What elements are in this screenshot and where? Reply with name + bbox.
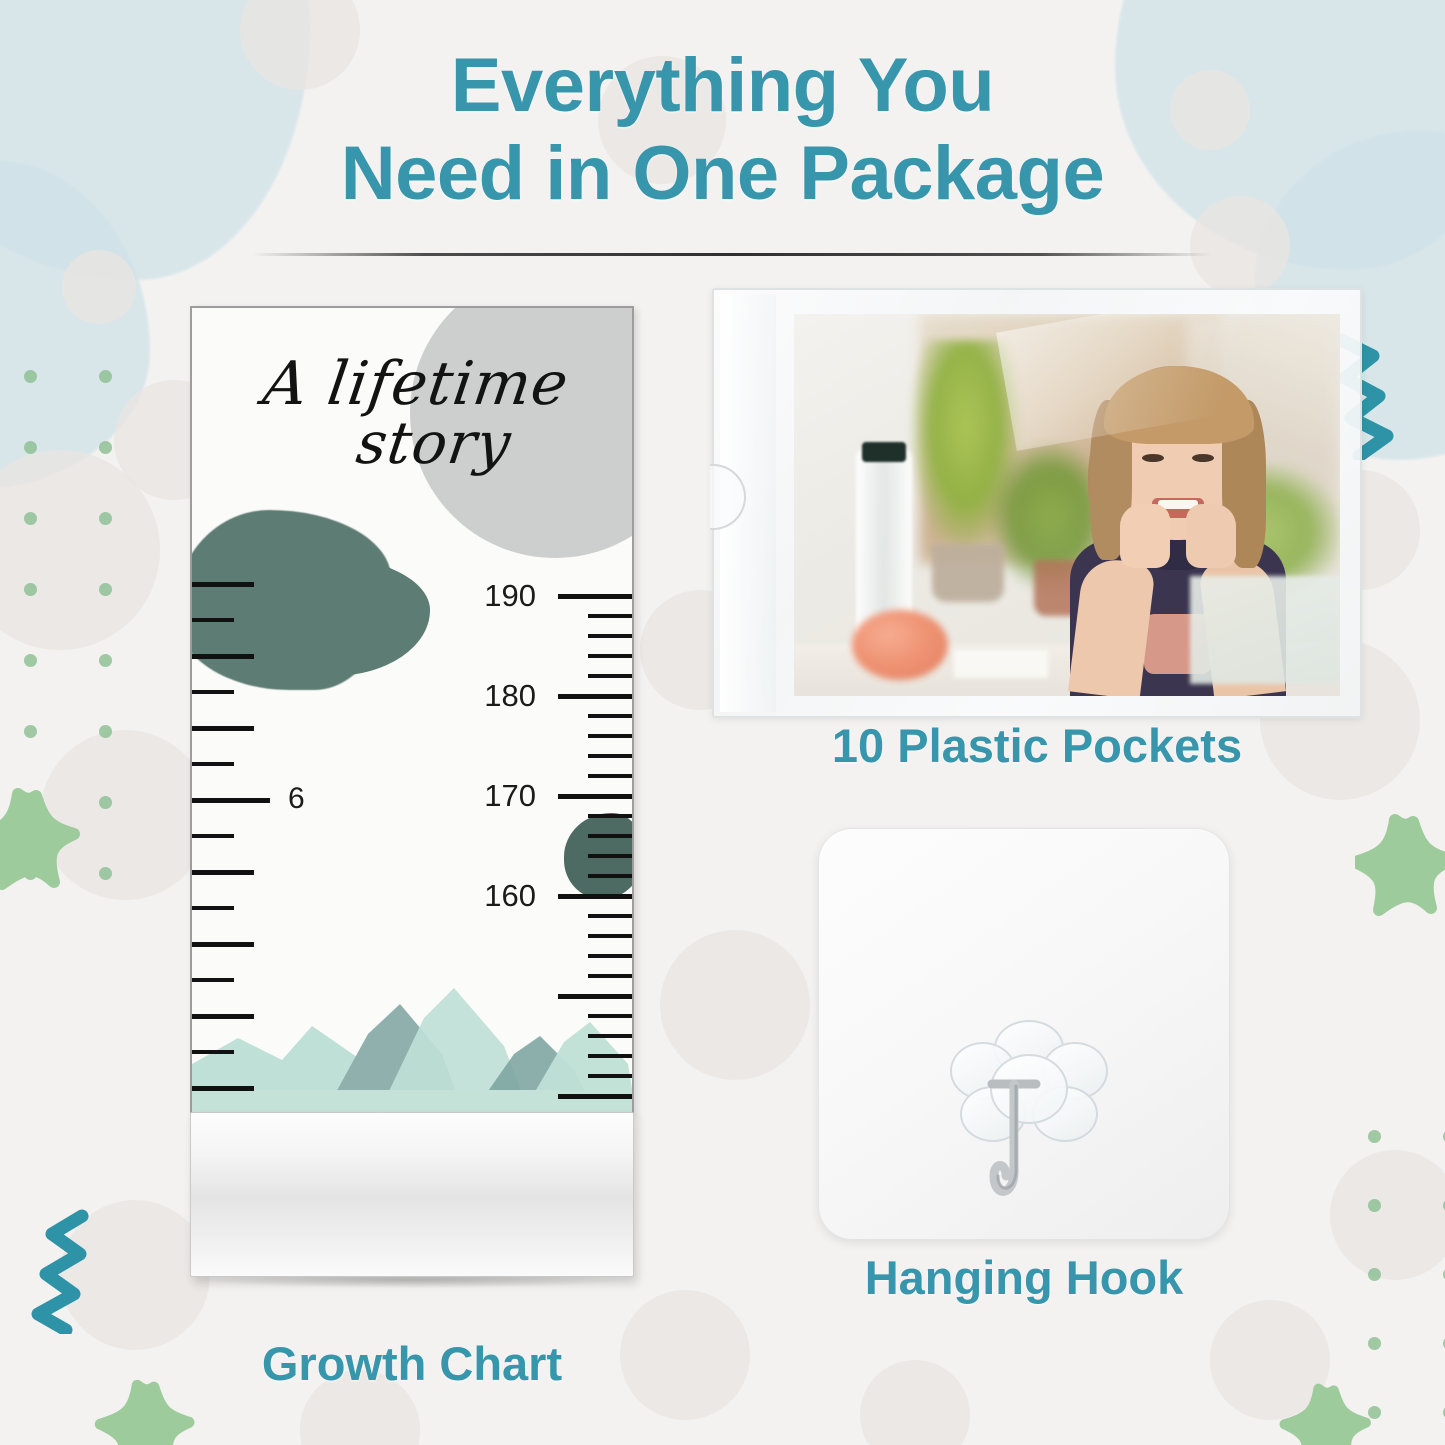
background-circle xyxy=(620,1290,750,1420)
growth-chart-rolled-bottom xyxy=(190,1112,634,1277)
caption-hanging-hook: Hanging Hook xyxy=(818,1250,1230,1305)
headline-line-2: Need in One Package xyxy=(0,130,1445,218)
background-circle xyxy=(660,930,810,1080)
photo-bottle-cap xyxy=(862,442,906,462)
photo-girl-eye xyxy=(1192,454,1214,462)
decor-dot xyxy=(99,796,112,809)
decor-dot xyxy=(99,441,112,454)
photo-girl-eye xyxy=(1142,454,1164,462)
decor-dot xyxy=(24,512,37,525)
hook-metal-hook-icon xyxy=(986,1076,1042,1216)
decor-dot xyxy=(24,583,37,596)
decor-dot xyxy=(99,370,112,383)
photo-foreground-card xyxy=(1190,576,1340,684)
product-growth-chart[interactable]: A lifetime story xyxy=(190,306,634,1316)
ruler-cm-label-170: 170 xyxy=(446,778,536,814)
infographic-canvas: Everything You Need in One Package A lif… xyxy=(0,0,1445,1445)
photo-paper xyxy=(954,650,1048,678)
decor-star-bottom-right xyxy=(1277,1382,1387,1445)
background-circle xyxy=(860,1360,970,1445)
headline-divider xyxy=(252,253,1212,256)
decor-dot xyxy=(1368,1199,1381,1212)
headline-line-1: Everything You xyxy=(0,42,1445,130)
decor-dot xyxy=(24,725,37,738)
ruler-cm-label-190: 190 xyxy=(446,578,536,614)
decor-dot xyxy=(99,583,112,596)
ruler-cm-label-160: 160 xyxy=(446,878,536,914)
photo-girl-hand xyxy=(1186,504,1236,568)
product-hanging-hook[interactable] xyxy=(818,828,1230,1240)
decor-dot xyxy=(1368,1268,1381,1281)
decor-dot xyxy=(24,370,37,383)
decor-star-right xyxy=(1355,810,1445,940)
product-plastic-pocket[interactable] xyxy=(712,288,1362,718)
decor-zigzag-bottom-left xyxy=(4,1206,108,1334)
decor-dot xyxy=(24,441,37,454)
caption-growth-chart: Growth Chart xyxy=(190,1336,634,1391)
decor-dot xyxy=(1368,1337,1381,1350)
ruler-right-cm xyxy=(542,308,632,1116)
decor-dot xyxy=(99,654,112,667)
headline: Everything You Need in One Package xyxy=(0,42,1445,218)
photo-flowerpot xyxy=(932,544,1004,602)
decor-dot xyxy=(1368,1130,1381,1143)
background-circle xyxy=(62,250,136,324)
caption-plastic-pockets: 10 Plastic Pockets xyxy=(712,718,1362,773)
photo-girl-hand xyxy=(1120,504,1170,568)
decor-dot xyxy=(99,725,112,738)
ruler-left-feet xyxy=(192,308,282,1116)
ruler-cm-label-180: 180 xyxy=(446,678,536,714)
decor-dot xyxy=(99,867,112,880)
growth-chart-canvas: A lifetime story xyxy=(190,306,634,1116)
decor-star-left xyxy=(0,786,94,916)
pocket-photo xyxy=(794,314,1340,696)
decor-dot xyxy=(99,512,112,525)
ruler-feet-label-6: 6 xyxy=(288,782,305,816)
photo-fruit xyxy=(852,610,948,680)
decor-dot xyxy=(24,654,37,667)
